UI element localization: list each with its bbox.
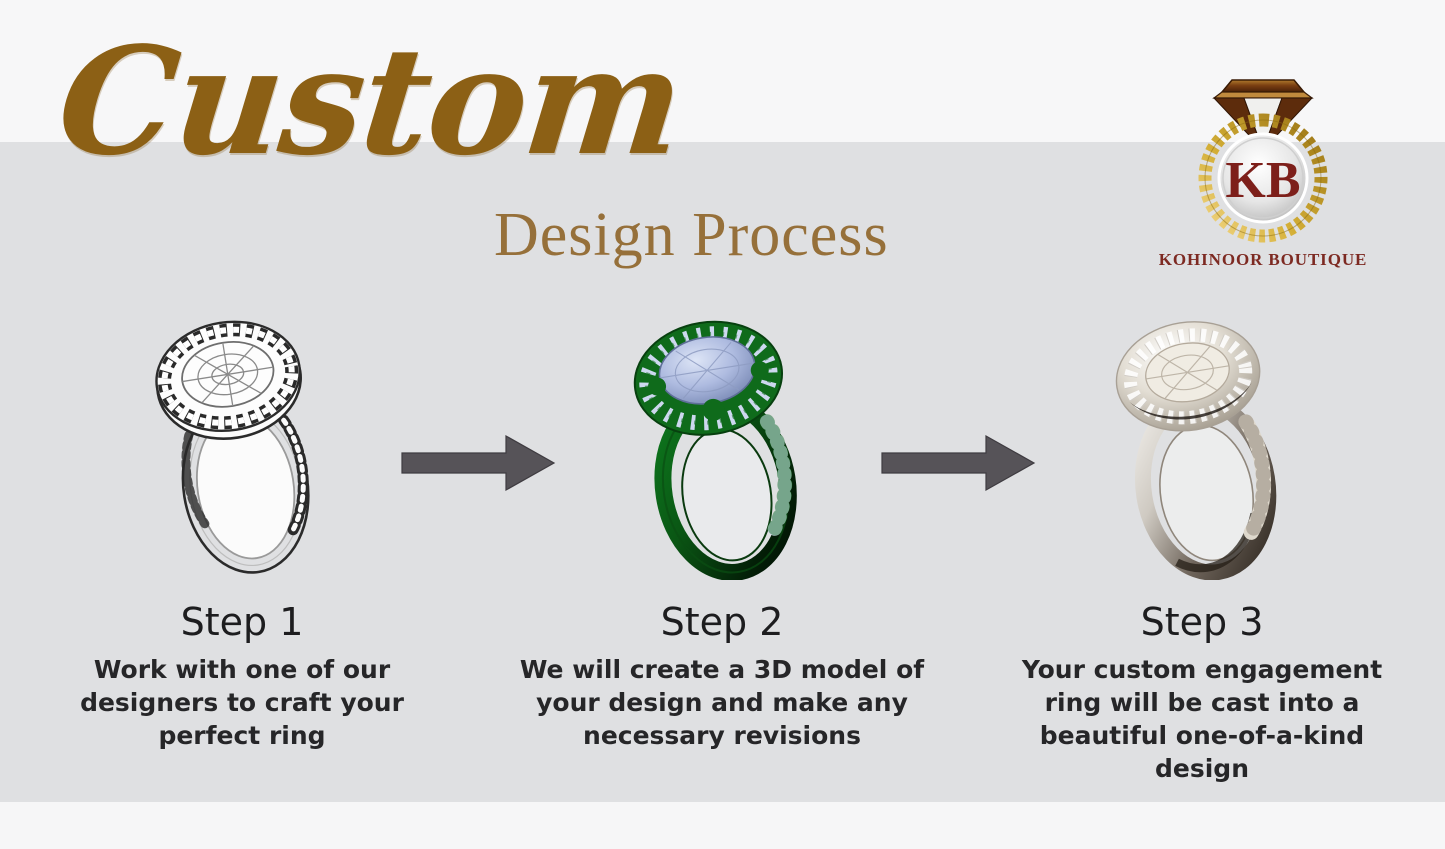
step-2-title: Step 2 [502,603,942,643]
step-2-description: We will create a 3D model of your design… [502,653,942,752]
step-1-description: Work with one of our designers to craft … [22,653,462,752]
custom-design-process-infographic: Custom Design Process [0,0,1445,849]
step-2-image [502,300,942,585]
step-3-title: Step 3 [982,603,1422,643]
step-1-title: Step 1 [22,603,462,643]
background-band-bottom [0,802,1445,849]
page-subtitle: Design Process [494,204,889,266]
arrow-right-icon [398,432,558,494]
logo-brand-name: KOHINOOR BOUTIQUE [1148,250,1378,270]
brand-logo: KB KOHINOOR BOUTIQUE [1148,58,1378,283]
kohinoor-ring-logo-icon: KB [1148,58,1378,250]
steps-row: Step 1 Work with one of our designers to… [0,300,1445,800]
step-1: Step 1 Work with one of our designers to… [22,300,462,752]
step-3: Step 3 Your custom engagement ring will … [982,300,1422,785]
step-2: Step 2 We will create a 3D model of your… [502,300,942,752]
step-3-image [982,300,1422,585]
ring-3d-cad-icon [607,305,837,580]
arrow-step1-to-step2 [398,432,558,494]
step-3-description: Your custom engagement ring will be cast… [982,653,1422,785]
step-1-image [22,300,462,585]
page-title-script: Custom [52,22,709,182]
logo-mark: KB [1148,58,1378,250]
arrow-right-icon [878,432,1038,494]
ring-photo-icon [1087,305,1317,580]
ring-sketch-icon [127,305,357,580]
arrow-step2-to-step3 [878,432,1038,494]
logo-monogram-text: KB [1225,152,1300,209]
